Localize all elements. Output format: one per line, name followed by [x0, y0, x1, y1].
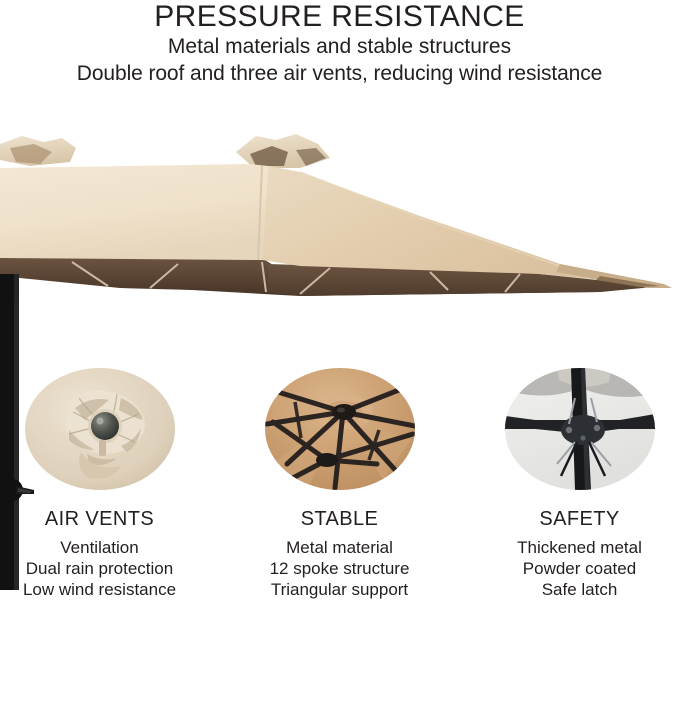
feature-lines-air-vents: Ventilation Dual rain protection Low win… — [23, 537, 176, 600]
feature-title-stable: STABLE — [301, 507, 379, 531]
feature-line: Metal material — [270, 537, 410, 558]
lower-hub — [316, 453, 338, 467]
canopy-panel-left — [0, 164, 268, 260]
top-vent-caps — [0, 134, 330, 168]
air-vent-icon — [25, 368, 175, 490]
feature-lines-stable: Metal material 12 spoke structure Triang… — [270, 537, 410, 600]
feature-thumbnail-safety — [505, 368, 655, 490]
feature-line: Low wind resistance — [23, 579, 176, 600]
feature-title-air-vents: AIR VENTS — [45, 507, 154, 531]
feature-safety: SAFETY Thickened metal Powder coated Saf… — [482, 368, 677, 600]
feature-row: AIR VENTS Ventilation Dual rain protecti… — [0, 368, 679, 600]
umbrella-illustration — [0, 96, 679, 356]
subtitle-line-2: Double roof and three air vents, reducin… — [0, 60, 679, 88]
feature-air-vents: AIR VENTS Ventilation Dual rain protecti… — [2, 368, 197, 600]
feature-thumbnail-air-vents — [25, 368, 175, 490]
feature-line: Thickened metal — [517, 537, 642, 558]
header: PRESSURE RESISTANCE Metal materials and … — [0, 0, 679, 88]
feature-line: Ventilation — [23, 537, 176, 558]
page-title: PRESSURE RESISTANCE — [0, 0, 679, 33]
feature-line: 12 spoke structure — [270, 558, 410, 579]
safety-hub-icon — [505, 368, 655, 490]
subtitle-line-1: Metal materials and stable structures — [0, 33, 679, 60]
feature-lines-safety: Thickened metal Powder coated Safe latch — [517, 537, 642, 600]
feature-thumbnail-stable — [265, 368, 415, 490]
feature-line: Powder coated — [517, 558, 642, 579]
feature-title-safety: SAFETY — [539, 507, 619, 531]
feature-line: Triangular support — [270, 579, 410, 600]
feature-line: Safe latch — [517, 579, 642, 600]
spoke-structure-icon — [265, 368, 415, 490]
feature-line: Dual rain protection — [23, 558, 176, 579]
feature-stable: STABLE Metal material 12 spoke structure… — [242, 368, 437, 600]
canopy-underside-left — [0, 258, 268, 292]
hero-umbrella-image — [0, 96, 679, 356]
upper-hub — [332, 404, 356, 420]
